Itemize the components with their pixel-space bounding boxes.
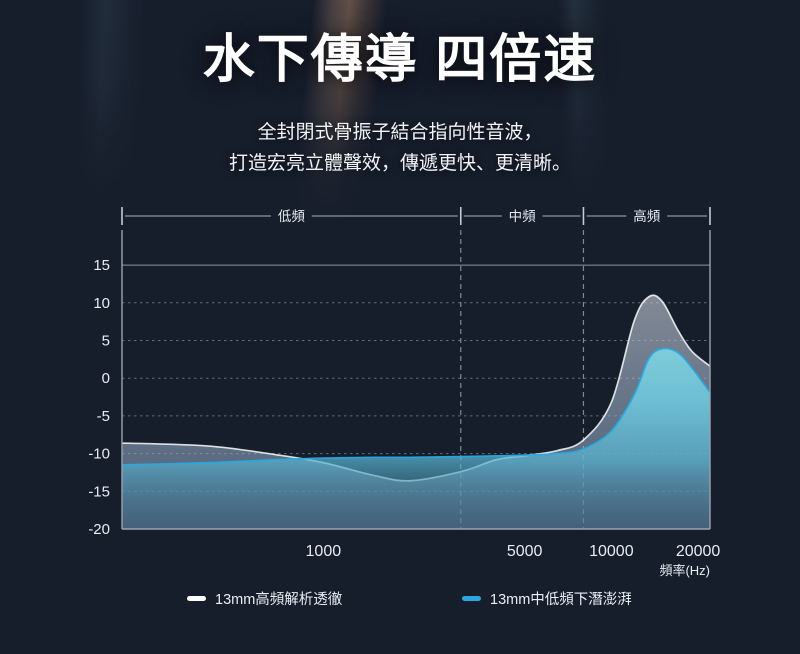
- svg-text:20000: 20000: [676, 543, 721, 560]
- svg-text:10: 10: [93, 295, 110, 312]
- svg-text:高頻: 高頻: [633, 208, 660, 224]
- chart-legend: 13mm高頻解析透徹 13mm中低頻下潛澎湃: [0, 588, 800, 614]
- legend-label: 13mm中低頻下潛澎湃: [490, 588, 632, 609]
- legend-label: 13mm高頻解析透徹: [215, 588, 342, 609]
- frequency-response-svg: 低頻中頻高頻-20-15-10-505101510005000100002000…: [0, 196, 800, 616]
- svg-text:低頻: 低頻: [278, 209, 305, 224]
- svg-text:5: 5: [102, 332, 110, 349]
- page-title: 水下傳導 四倍速: [0, 31, 800, 91]
- svg-text:-15: -15: [88, 483, 110, 500]
- legend-item-white: 13mm高頻解析透徹: [187, 588, 342, 609]
- legend-swatch-icon: [462, 596, 481, 601]
- svg-text:10000: 10000: [589, 543, 634, 560]
- product-feature-page: 水下傳導 四倍速 全封閉式骨振子結合指向性音波， 打造宏亮立體聲效，傳遞更快、更…: [0, 0, 800, 654]
- frequency-response-chart: 低頻中頻高頻-20-15-10-505101510005000100002000…: [0, 196, 800, 616]
- svg-text:1000: 1000: [306, 543, 342, 560]
- subtitle-line-2: 打造宏亮立體聲效，傳遞更快、更清晰。: [0, 149, 800, 180]
- svg-text:-20: -20: [88, 521, 110, 538]
- page-subtitle: 全封閉式骨振子結合指向性音波， 打造宏亮立體聲效，傳遞更快、更清晰。: [0, 118, 800, 180]
- legend-swatch-icon: [187, 596, 206, 601]
- svg-text:中頻: 中頻: [509, 209, 536, 224]
- svg-text:頻率(Hz): 頻率(Hz): [659, 563, 710, 578]
- svg-text:5000: 5000: [507, 543, 543, 560]
- svg-text:0: 0: [102, 370, 110, 387]
- subtitle-line-1: 全封閉式骨振子結合指向性音波，: [0, 118, 800, 149]
- svg-text:-10: -10: [88, 446, 110, 463]
- svg-text:-5: -5: [97, 408, 110, 425]
- svg-text:15: 15: [93, 257, 110, 274]
- legend-item-blue: 13mm中低頻下潛澎湃: [462, 588, 632, 609]
